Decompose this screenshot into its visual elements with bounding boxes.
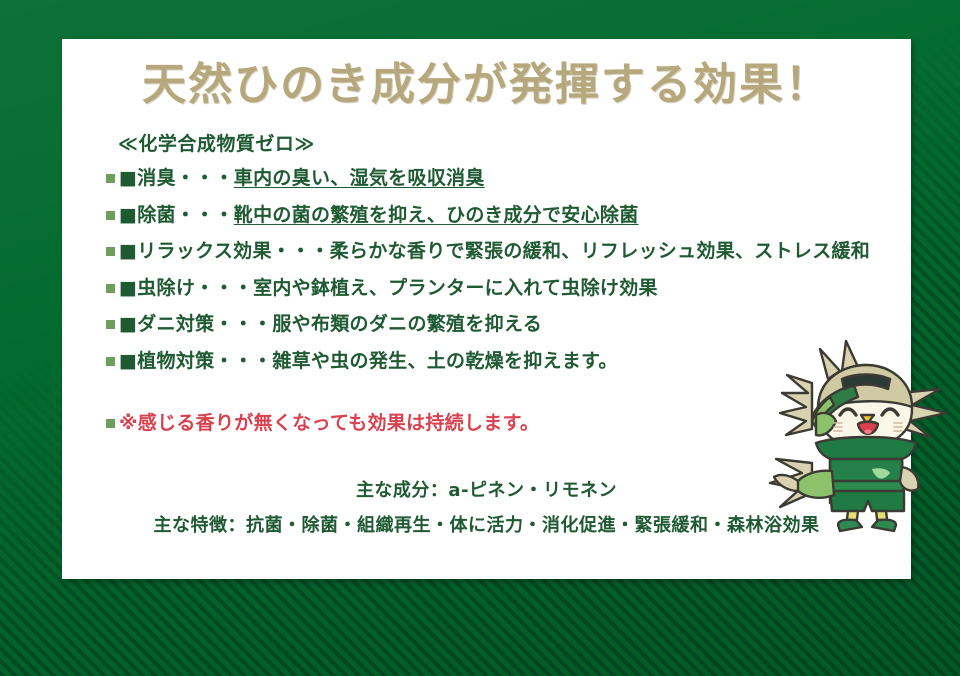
content-card: 天然ひのき成分が発揮する効果！ ≪化学合成物質ゼロ≫ ■消臭・・・車内の臭い、湿… (62, 39, 911, 579)
footer-block: 主な成分：a-ピネン・リモネン 主な特徴：抗菌・除菌・組織再生・体に活力・消化促… (62, 476, 911, 537)
list-item-lead: ■リラックス効果・・・ (119, 240, 330, 262)
bullet-square-icon (106, 211, 115, 220)
list-item-text: 靴中の菌の繁殖を抑え、ひのき成分で安心除菌 (234, 204, 639, 226)
eye-right-closed (882, 409, 898, 415)
bullet-square-icon (106, 284, 115, 293)
list-item-text: 室内や鉢植え、プランターに入れて虫除け効果 (253, 277, 658, 299)
subtitle-zero-chemicals: ≪化学合成物質ゼロ≫ (118, 129, 881, 156)
list-item: ■リラックス効果・・・柔らかな香りで緊張の緩和、リフレッシュ効果、ストレス緩和 (106, 238, 881, 266)
bullet-square-icon (106, 320, 115, 329)
list-item-lead: ■植物対策・・・ (119, 350, 272, 372)
list-item: ■除菌・・・靴中の菌の繁殖を抑え、ひのき成分で安心除菌 (106, 202, 881, 230)
list-item-text: 服や布類のダニの繁殖を抑える (272, 313, 542, 335)
bullet-square-icon (106, 174, 115, 183)
list-item-text: 車内の臭い、湿気を吸収消臭 (234, 167, 485, 189)
warning-note-text: ※感じる香りが無くなっても効果は持続します。 (119, 412, 539, 434)
bullet-square-icon (106, 419, 115, 428)
list-item-lead: ■ダニ対策・・・ (119, 313, 272, 335)
bullet-square-icon (106, 357, 115, 366)
list-item: ■虫除け・・・室内や鉢植え、プランターに入れて虫除け効果 (106, 275, 881, 303)
page-title: 天然ひのき成分が発揮する効果！ (62, 61, 911, 109)
list-item-lead: ■消臭・・・ (119, 167, 234, 189)
list-item-lead: ■虫除け・・・ (119, 277, 253, 299)
list-item: ■ダニ対策・・・服や布類のダニの繁殖を抑える (106, 311, 881, 339)
benefits-list: ≪化学合成物質ゼロ≫ ■消臭・・・車内の臭い、湿気を吸収消臭 ■除菌・・・靴中の… (106, 129, 881, 447)
list-item-lead: ■除菌・・・ (119, 204, 234, 226)
list-item: ■植物対策・・・雑草や虫の発生、土の乾燥を抑えます。 (106, 348, 881, 376)
poster-canvas: 天然ひのき成分が発揮する効果！ ≪化学合成物質ゼロ≫ ■消臭・・・車内の臭い、湿… (0, 0, 960, 676)
bullet-square-icon (106, 247, 115, 256)
list-item-text: 柔らかな香りで緊張の緩和、リフレッシュ効果、ストレス緩和 (330, 240, 870, 262)
list-item-text: 雑草や虫の発生、土の乾燥を抑えます。 (272, 350, 618, 372)
list-spacer (106, 384, 881, 410)
warning-note: ※感じる香りが無くなっても効果は持続します。 (106, 410, 881, 438)
footer-features: 主な特徴：抗菌・除菌・組織再生・体に活力・消化促進・緊張緩和・森林浴効果 (62, 511, 911, 537)
footer-ingredients: 主な成分：a-ピネン・リモネン (62, 476, 911, 502)
list-item: ■消臭・・・車内の臭い、湿気を吸収消臭 (106, 165, 881, 193)
